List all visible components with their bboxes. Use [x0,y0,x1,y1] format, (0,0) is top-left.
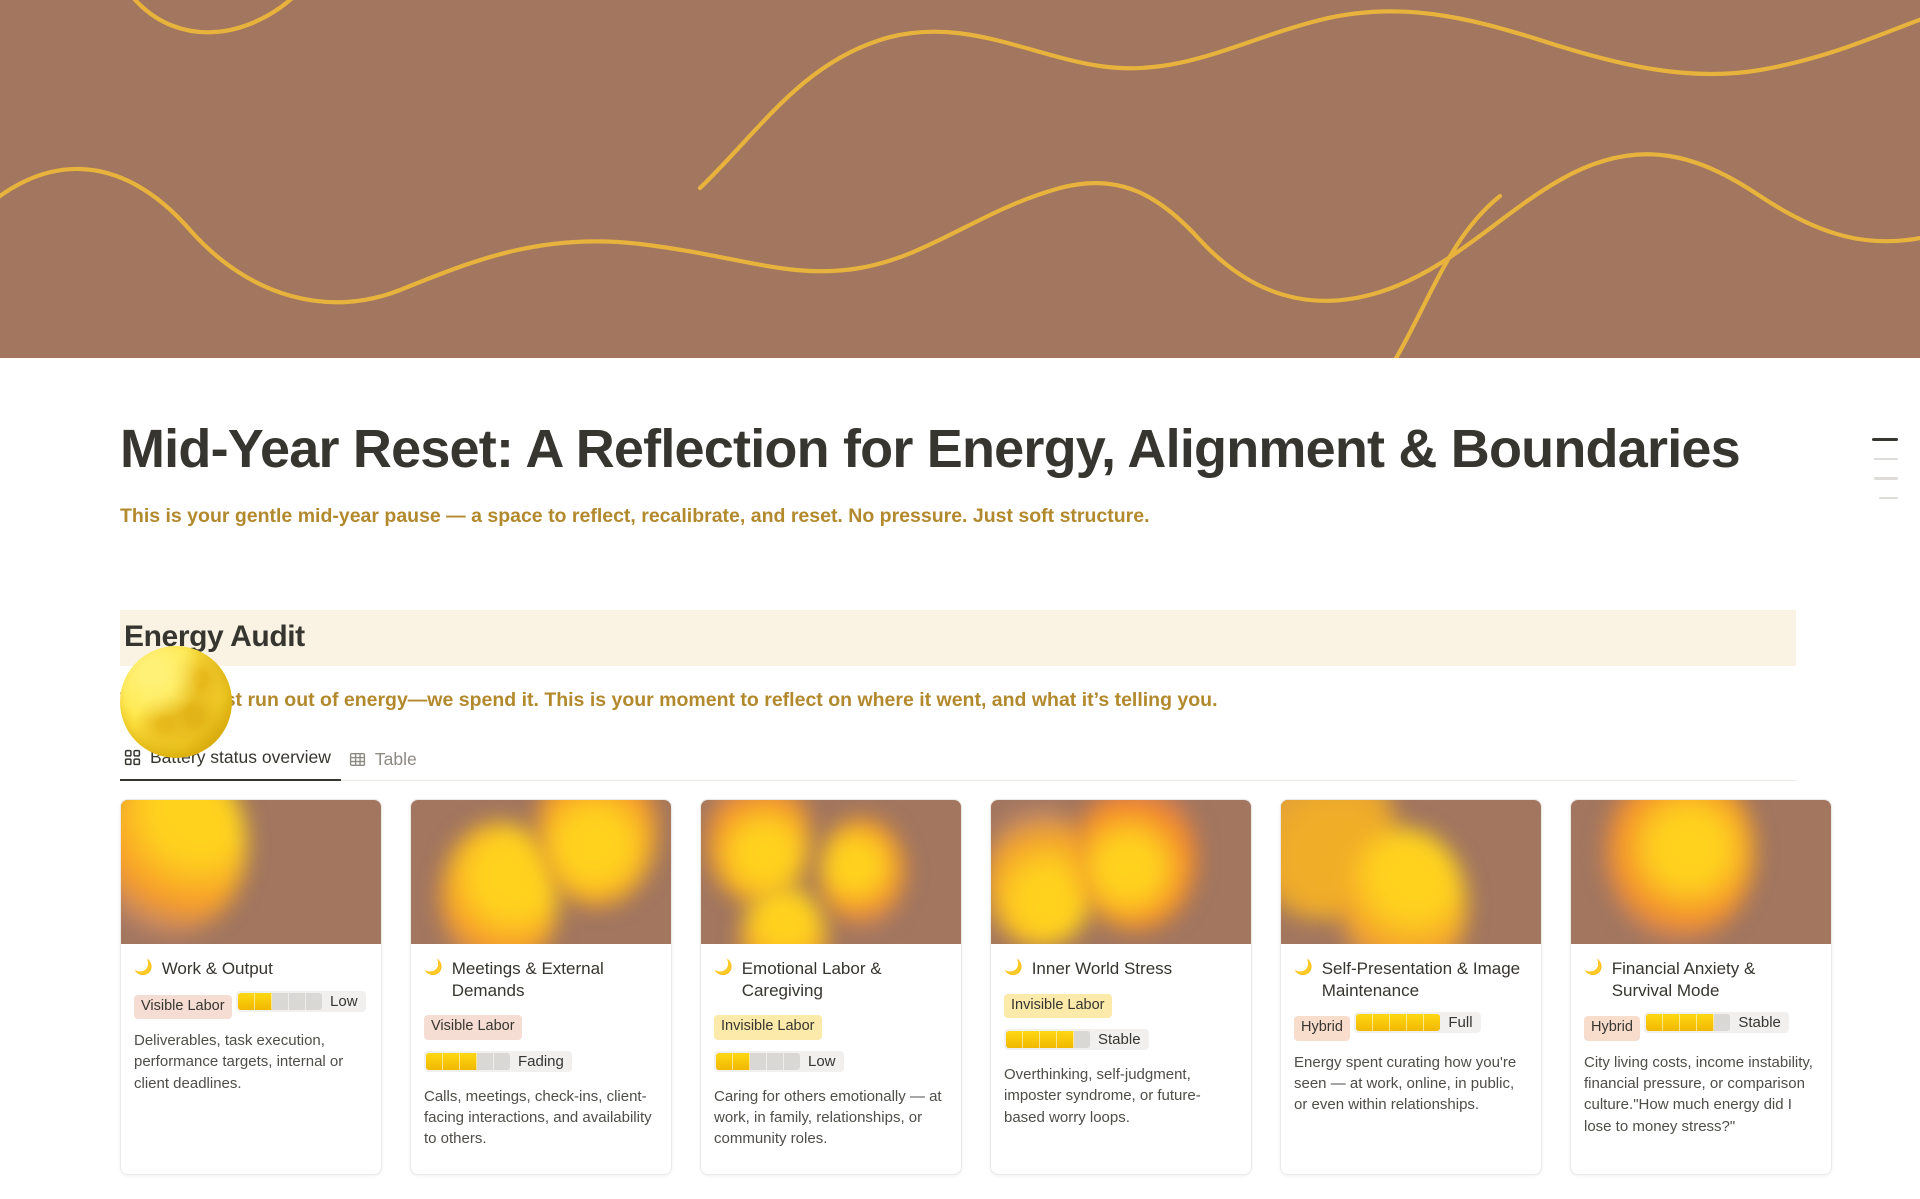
card-tag: Invisible Labor [1004,994,1112,1019]
card-description: City living costs, income instability, f… [1584,1052,1818,1137]
battery-label: Low [808,1053,836,1070]
crescent-moon-icon: 🌙 [714,958,733,978]
card-title: Self-Presentation & Image Maintenance [1322,958,1528,1002]
outline-marker-2[interactable] [1874,458,1898,461]
card-tag: Visible Labor [134,995,232,1020]
card-inner-world-stress[interactable]: 🌙 Inner World Stress Invisible Labor Sta… [990,799,1252,1175]
crescent-moon-icon: 🌙 [134,958,153,978]
section-caption: We don’t just run out of energy—we spend… [120,686,1796,715]
section-heading-band: Energy Audit [120,610,1796,666]
battery-status: Stable [1004,1029,1149,1050]
card-tag: Visible Labor [424,1015,522,1040]
card-tag: Hybrid [1294,1016,1350,1041]
battery-status: Fading [424,1051,572,1072]
card-self-presentation-image-maintenance[interactable]: 🌙 Self-Presentation & Image Maintenance … [1280,799,1542,1175]
card-title-row: 🌙 Work & Output [134,958,368,980]
card-tag: Hybrid [1584,1016,1640,1041]
battery-gauge [426,1053,510,1070]
card-title-row: 🌙 Emotional Labor & Caregiving [714,958,948,1002]
card-gallery: 🌙 Work & Output Visible Labor Low Delive… [120,799,1796,1175]
crescent-moon-icon: 🌙 [1004,958,1023,978]
card-cover-image [121,800,381,944]
card-title: Emotional Labor & Caregiving [742,958,948,1002]
tab-label: Table [375,749,417,770]
battery-gauge [716,1053,800,1070]
card-title: Work & Output [162,958,273,980]
card-financial-anxiety-survival-mode[interactable]: 🌙 Financial Anxiety & Survival Mode Hybr… [1570,799,1832,1175]
page-cover[interactable] [0,0,1920,358]
page-subtitle: This is your gentle mid-year pause — a s… [120,502,1796,531]
tab-table[interactable]: Table [345,749,427,781]
card-cover-image [1281,800,1541,944]
battery-status: Low [236,991,366,1012]
battery-label: Full [1448,1014,1472,1031]
battery-gauge [238,993,322,1010]
card-title-row: 🌙 Financial Anxiety & Survival Mode [1584,958,1818,1002]
crescent-moon-icon: 🌙 [424,958,443,978]
card-title: Financial Anxiety & Survival Mode [1612,958,1818,1002]
card-emotional-labor-caregiving[interactable]: 🌙 Emotional Labor & Caregiving Invisible… [700,799,962,1175]
battery-gauge [1356,1014,1440,1031]
card-cover-image [701,800,961,944]
battery-status: Stable [1644,1012,1789,1033]
battery-label: Low [330,993,358,1010]
outline-marker-1[interactable] [1872,438,1898,441]
section-title: Energy Audit [124,620,1790,654]
card-work-output[interactable]: 🌙 Work & Output Visible Labor Low Delive… [120,799,382,1175]
card-description: Caring for others emotionally — at work,… [714,1086,948,1150]
table-icon [349,751,366,768]
page-body: Mid-Year Reset: A Reflection for Energy,… [0,358,1920,1175]
page-title: Mid-Year Reset: A Reflection for Energy,… [120,358,1796,478]
card-meetings-external-demands[interactable]: 🌙 Meetings & External Demands Visible La… [410,799,672,1175]
battery-gauge [1646,1014,1730,1031]
card-description: Deliverables, task execution, performanc… [134,1030,368,1094]
card-description: Overthinking, self-judgment, imposter sy… [1004,1064,1238,1128]
moon-icon [120,646,232,758]
page-outline-rail [1872,438,1898,499]
card-cover-image [991,800,1251,944]
battery-gauge [1006,1031,1090,1048]
card-description: Energy spent curating how you're seen — … [1294,1052,1528,1116]
card-cover-image [411,800,671,944]
battery-status: Low [714,1051,844,1072]
card-description: Calls, meetings, check-ins, client-facin… [424,1086,658,1150]
battery-label: Fading [518,1053,564,1070]
card-title-row: 🌙 Meetings & External Demands [424,958,658,1002]
cover-wave-illustration [0,0,1920,358]
card-title-row: 🌙 Self-Presentation & Image Maintenance [1294,958,1528,1002]
battery-label: Stable [1098,1031,1141,1048]
card-tag: Invisible Labor [714,1015,822,1040]
crescent-moon-icon: 🌙 [1584,958,1603,978]
card-cover-image [1571,800,1831,944]
outline-marker-4[interactable] [1879,497,1898,500]
card-title: Inner World Stress [1032,958,1172,980]
card-title-row: 🌙 Inner World Stress [1004,958,1238,980]
card-title: Meetings & External Demands [452,958,658,1002]
page-icon-moon[interactable] [120,646,236,762]
outline-marker-3[interactable] [1874,477,1898,480]
battery-status: Full [1354,1012,1480,1033]
database-view-tabs: Battery status overview Table [120,737,1796,781]
crescent-moon-icon: 🌙 [1294,958,1313,978]
battery-label: Stable [1738,1014,1781,1031]
